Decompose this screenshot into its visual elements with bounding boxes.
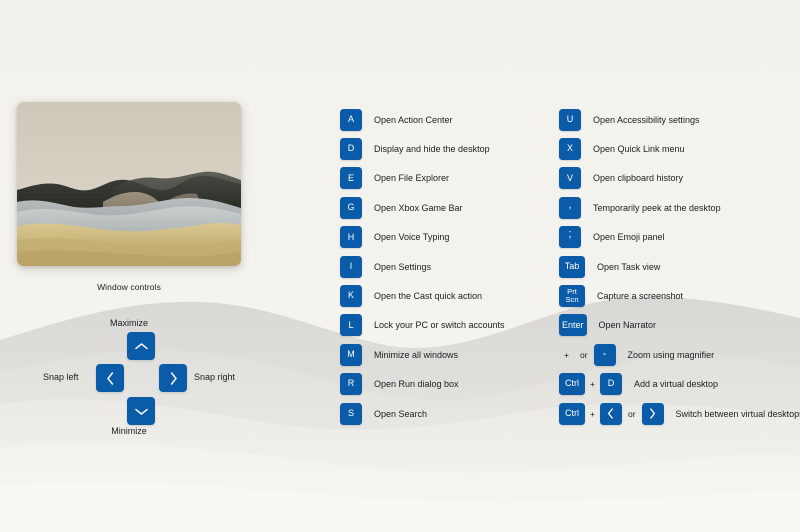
shortcut-description: Open Narrator (587, 320, 657, 330)
key-g[interactable]: G (340, 197, 362, 219)
shortcut-description: Open Task view (585, 262, 660, 272)
key-joiner-plus: + (559, 350, 574, 360)
shortcut-row: UOpen Accessibility settings (559, 105, 797, 134)
maximize-label: Maximize (17, 318, 241, 328)
shortcut-row: EOpen File Explorer (340, 164, 550, 193)
shortcut-keys: E (340, 167, 362, 189)
key-v[interactable]: V (559, 167, 581, 189)
shortcut-keys: H (340, 226, 362, 248)
key-semicolon[interactable]: ; (559, 226, 581, 248)
shortcut-keys: +or- (559, 344, 616, 366)
shortcut-row: HOpen Voice Typing (340, 223, 550, 252)
shortcut-description: Open Run dialog box (362, 379, 459, 389)
shortcut-keys: , (559, 197, 581, 219)
key-joiner-or: or (622, 409, 642, 419)
shortcut-keys: Tab (559, 256, 585, 278)
key-enter[interactable]: Enter (559, 314, 587, 336)
shortcut-keys: A (340, 109, 362, 131)
key-minus[interactable]: - (594, 344, 616, 366)
shortcut-description: Minimize all windows (362, 350, 458, 360)
chevron-right-icon (649, 408, 656, 419)
chevron-left-icon (607, 408, 614, 419)
snap-right-key[interactable] (159, 364, 187, 392)
key-d[interactable]: D (600, 373, 622, 395)
shortcuts-column-right: UOpen Accessibility settingsXOpen Quick … (559, 105, 797, 428)
shortcut-keys: G (340, 197, 362, 219)
key-joiner-plus: + (585, 379, 600, 389)
key-u[interactable]: U (559, 109, 581, 131)
shortcut-keys: X (559, 138, 581, 160)
key-l[interactable]: L (340, 314, 362, 336)
shortcut-keys: K (340, 285, 362, 307)
shortcut-keys: M (340, 344, 362, 366)
minimize-label: Minimize (17, 426, 241, 436)
shortcut-row: TabOpen Task view (559, 252, 797, 281)
shortcut-keys: D (340, 138, 362, 160)
shortcuts-column-left: AOpen Action CenterDDisplay and hide the… (340, 105, 550, 428)
shortcut-description: Open clipboard history (581, 173, 683, 183)
key-r[interactable]: R (340, 373, 362, 395)
shortcut-keys: S (340, 403, 362, 425)
key-m[interactable]: M (340, 344, 362, 366)
shortcut-description: Capture a screenshot (585, 291, 683, 301)
key-tab[interactable]: Tab (559, 256, 585, 278)
chevron-left-icon (106, 372, 115, 385)
shortcut-description: Temporarily peek at the desktop (581, 203, 721, 213)
shortcut-row: VOpen clipboard history (559, 164, 797, 193)
shortcut-description: Open Voice Typing (362, 232, 449, 242)
key-chevron-left[interactable] (600, 403, 622, 425)
key-ctrl[interactable]: Ctrl (559, 403, 585, 425)
wallpaper-preview (17, 102, 241, 266)
shortcut-keys: Prt Scn (559, 285, 585, 307)
snap-left-label: Snap left (43, 372, 79, 382)
key-prt-scn[interactable]: Prt Scn (559, 285, 585, 307)
shortcut-row: ,Temporarily peek at the desktop (559, 193, 797, 222)
key-d[interactable]: D (340, 138, 362, 160)
shortcut-keys: Enter (559, 314, 587, 336)
key-x[interactable]: X (559, 138, 581, 160)
shortcut-keys: U (559, 109, 581, 131)
shortcut-description: Open Xbox Game Bar (362, 203, 463, 213)
shortcut-row: Ctrl+orSwitch between virtual desktops (559, 399, 797, 428)
shortcut-keys: L (340, 314, 362, 336)
shortcut-row: XOpen Quick Link menu (559, 134, 797, 163)
shortcut-keys: R (340, 373, 362, 395)
shortcut-keys: Ctrl+or (559, 403, 664, 425)
shortcut-row: ROpen Run dialog box (340, 370, 550, 399)
key-joiner-or: or (574, 350, 594, 360)
shortcut-row: +or-Zoom using magnifier (559, 340, 797, 369)
shortcut-row: MMinimize all windows (340, 340, 550, 369)
shortcut-description: Open Accessibility settings (581, 115, 700, 125)
shortcut-description: Open Settings (362, 262, 431, 272)
minimize-key[interactable] (127, 397, 155, 425)
shortcut-description: Open Action Center (362, 115, 453, 125)
key-k[interactable]: K (340, 285, 362, 307)
shortcut-row: GOpen Xbox Game Bar (340, 193, 550, 222)
shortcut-description: Open Search (362, 409, 427, 419)
shortcut-description: Display and hide the desktop (362, 144, 490, 154)
maximize-key[interactable] (127, 332, 155, 360)
shortcut-row: ;Open Emoji panel (559, 223, 797, 252)
window-controls-title: Window controls (17, 282, 241, 292)
shortcut-row: Ctrl+DAdd a virtual desktop (559, 370, 797, 399)
shortcut-description: Zoom using magnifier (616, 350, 715, 360)
shortcut-keys: ; (559, 226, 581, 248)
key-a[interactable]: A (340, 109, 362, 131)
shortcut-row: SOpen Search (340, 399, 550, 428)
key-e[interactable]: E (340, 167, 362, 189)
shortcut-keys: I (340, 256, 362, 278)
shortcut-row: KOpen the Cast quick action (340, 281, 550, 310)
snap-left-key[interactable] (96, 364, 124, 392)
shortcut-keys: V (559, 167, 581, 189)
shortcut-row: EnterOpen Narrator (559, 311, 797, 340)
shortcut-description: Lock your PC or switch accounts (362, 320, 505, 330)
key-chevron-right[interactable] (642, 403, 664, 425)
shortcut-description: Open Emoji panel (581, 232, 665, 242)
chevron-up-icon (135, 342, 148, 351)
shortcut-description: Open the Cast quick action (362, 291, 482, 301)
shortcut-row: DDisplay and hide the desktop (340, 134, 550, 163)
shortcut-description: Open Quick Link menu (581, 144, 685, 154)
shortcut-description: Open File Explorer (362, 173, 449, 183)
shortcut-row: AOpen Action Center (340, 105, 550, 134)
shortcut-row: LLock your PC or switch accounts (340, 311, 550, 340)
shortcut-row: IOpen Settings (340, 252, 550, 281)
key-joiner-plus: + (585, 409, 600, 419)
shortcut-description: Switch between virtual desktops (664, 409, 800, 419)
snap-right-label: Snap right (194, 372, 235, 382)
shortcut-description: Add a virtual desktop (622, 379, 718, 389)
key-h[interactable]: H (340, 226, 362, 248)
key-s[interactable]: S (340, 403, 362, 425)
key-ctrl[interactable]: Ctrl (559, 373, 585, 395)
chevron-down-icon (135, 407, 148, 416)
key-comma[interactable]: , (559, 197, 581, 219)
shortcut-keys: Ctrl+D (559, 373, 622, 395)
shortcut-row: Prt ScnCapture a screenshot (559, 281, 797, 310)
chevron-right-icon (169, 372, 178, 385)
key-i[interactable]: I (340, 256, 362, 278)
window-controls-group: Window controls Maximize Snap left (17, 282, 241, 442)
